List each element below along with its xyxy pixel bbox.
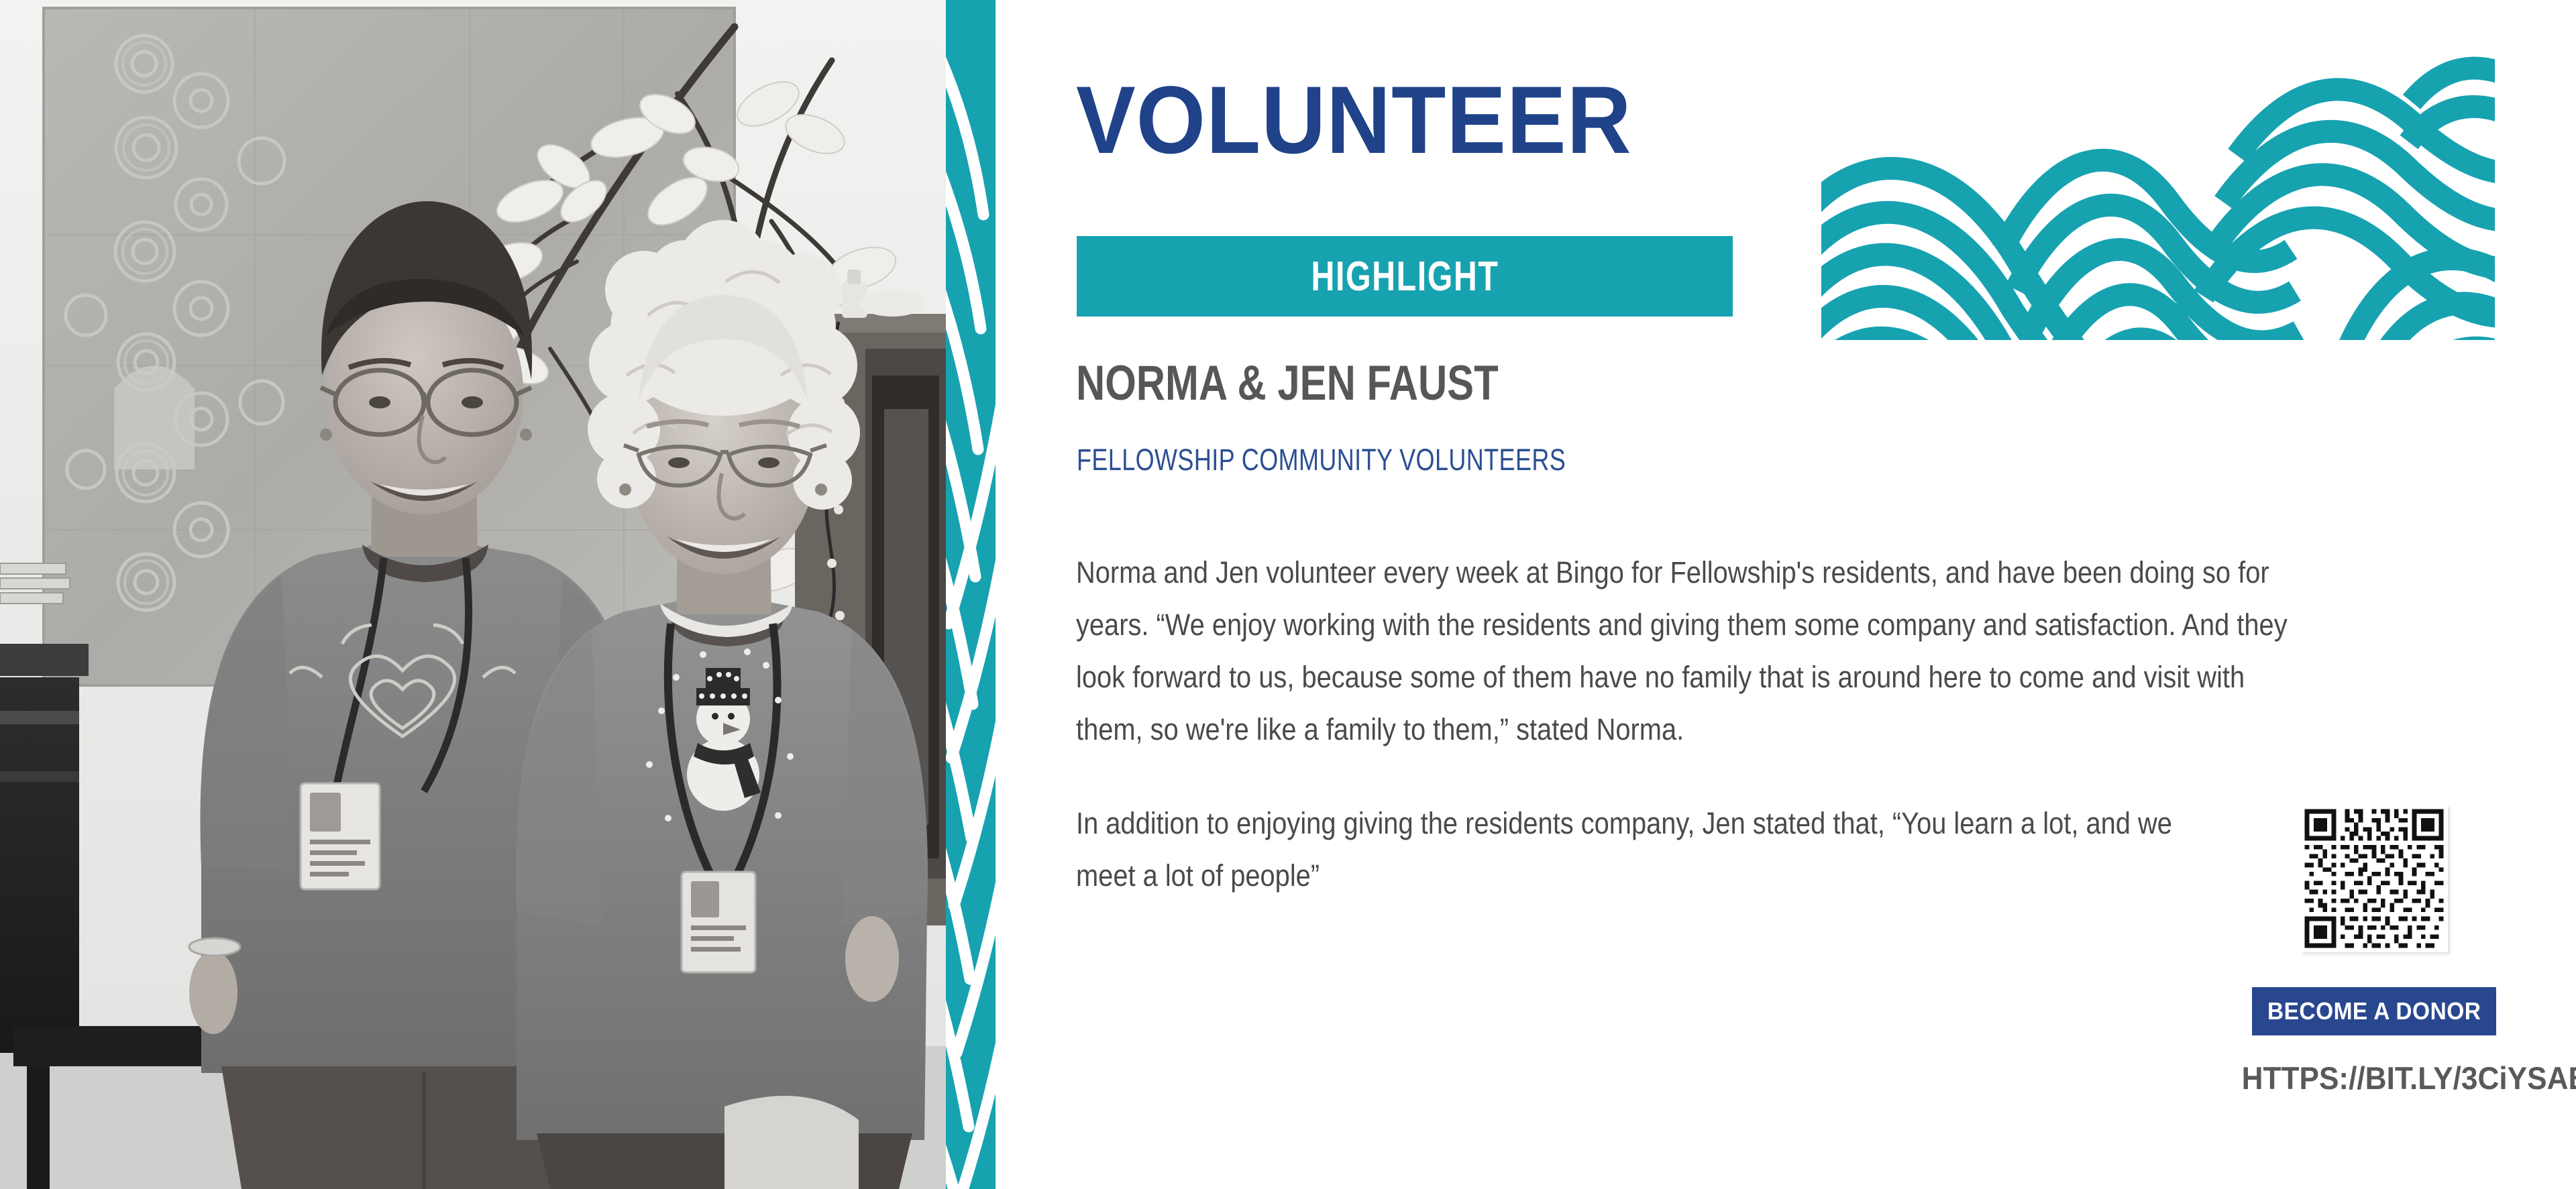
highlight-banner-label: HIGHLIGHT bbox=[1311, 253, 1499, 300]
donor-url-link[interactable]: HTTPS://BIT.LY/3CiYSAB bbox=[2242, 1060, 2507, 1096]
qr-code[interactable] bbox=[2300, 805, 2448, 952]
story-paragraph-2: In addition to enjoying giving the resid… bbox=[1076, 797, 2192, 902]
content-panel: VOLUNTEER HIGHLIGHT NORMA & JEN FAUST FE… bbox=[996, 0, 2576, 1189]
page-title: NORMA & JEN FAUST bbox=[1076, 355, 1499, 411]
page-subtitle: FELLOWSHIP COMMUNITY VOLUNTEERS bbox=[1077, 443, 1566, 477]
story-paragraph-1: Norma and Jen volunteer every week at Bi… bbox=[1076, 547, 2308, 756]
highlight-banner: HIGHLIGHT bbox=[1077, 236, 1733, 317]
become-a-donor-label: BECOME A DONOR bbox=[2267, 997, 2481, 1025]
page-title-kicker: VOLUNTEER bbox=[1076, 72, 1632, 168]
volunteer-highlight-poster: VOLUNTEER HIGHLIGHT NORMA & JEN FAUST FE… bbox=[0, 0, 2576, 1189]
cta-block: BECOME A DONOR HTTPS://BIT.LY/3CiYSAB bbox=[2233, 805, 2515, 1096]
become-a-donor-button[interactable]: BECOME A DONOR bbox=[2252, 987, 2496, 1035]
teal-wave-divider-strip bbox=[946, 0, 996, 1189]
volunteer-photo bbox=[0, 0, 946, 1189]
teal-wave-pattern bbox=[1821, 48, 2495, 340]
